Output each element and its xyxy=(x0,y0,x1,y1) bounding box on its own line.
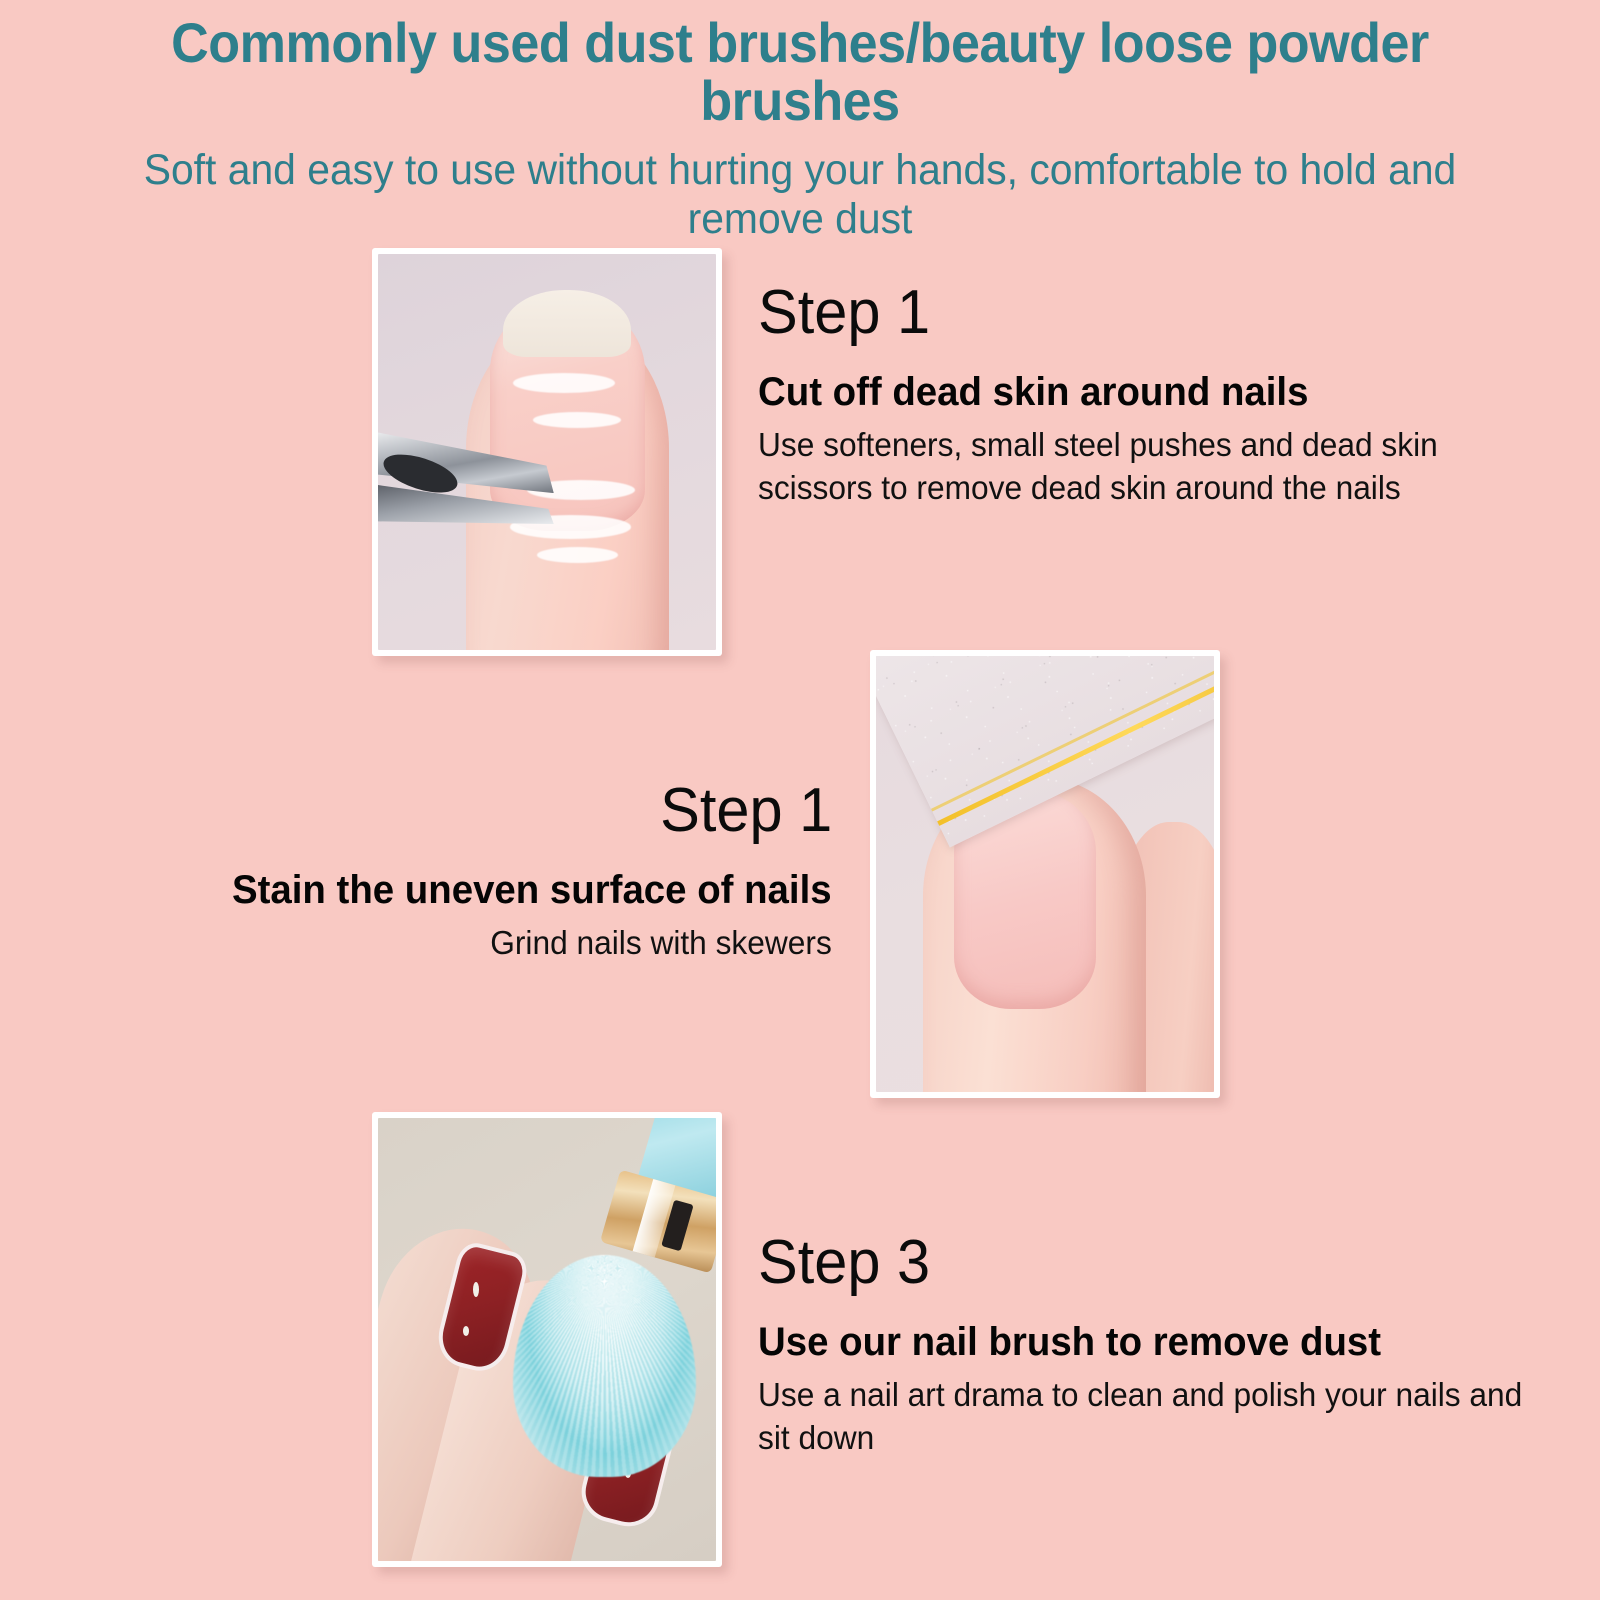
page-header: Commonly used dust brushes/beauty loose … xyxy=(0,0,1600,243)
photo-cuticle-nipper xyxy=(378,254,716,650)
nail-stud xyxy=(473,1282,479,1297)
photo-dust-brush xyxy=(378,1118,716,1561)
step-3-text-block: Step 3 Use our nail brush to remove dust… xyxy=(758,1112,1558,1567)
step-2-description: Grind nails with skewers xyxy=(490,922,832,965)
step-1-description: Use softeners, small steel pushes and de… xyxy=(758,424,1526,510)
step-section-3: Step 3 Use our nail brush to remove dust… xyxy=(372,1112,1558,1567)
step-2-text-block: Step 1 Stain the uneven surface of nails… xyxy=(72,650,832,1098)
nail-stud xyxy=(463,1326,469,1336)
cuticle-nipper-tool xyxy=(378,424,554,543)
step-3-label: Step 3 xyxy=(758,1232,1526,1294)
page-title: Commonly used dust brushes/beauty loose … xyxy=(56,14,1544,130)
dead-skin-flake xyxy=(513,373,614,393)
step-2-photo-frame xyxy=(870,650,1220,1098)
step-1-photo-frame xyxy=(372,248,722,656)
nail-free-edge-shape xyxy=(503,290,631,357)
step-1-text-block: Step 1 Cut off dead skin around nails Us… xyxy=(758,248,1558,656)
step-3-description: Use a nail art drama to clean and polish… xyxy=(758,1374,1526,1460)
step-1-label: Step 1 xyxy=(758,282,1526,344)
step-section-2: Step 1 Stain the uneven surface of nails… xyxy=(72,650,1220,1098)
step-3-heading: Use our nail brush to remove dust xyxy=(758,1320,1526,1364)
step-1-heading: Cut off dead skin around nails xyxy=(758,370,1526,414)
step-2-heading: Stain the uneven surface of nails xyxy=(232,868,832,912)
page-subtitle: Soft and easy to use without hurting you… xyxy=(40,146,1560,242)
step-section-1: Step 1 Cut off dead skin around nails Us… xyxy=(372,248,1558,656)
step-3-photo-frame xyxy=(372,1112,722,1567)
dead-skin-flake xyxy=(537,547,618,563)
step-2-label: Step 1 xyxy=(660,780,832,842)
photo-nail-buffer xyxy=(876,656,1214,1092)
